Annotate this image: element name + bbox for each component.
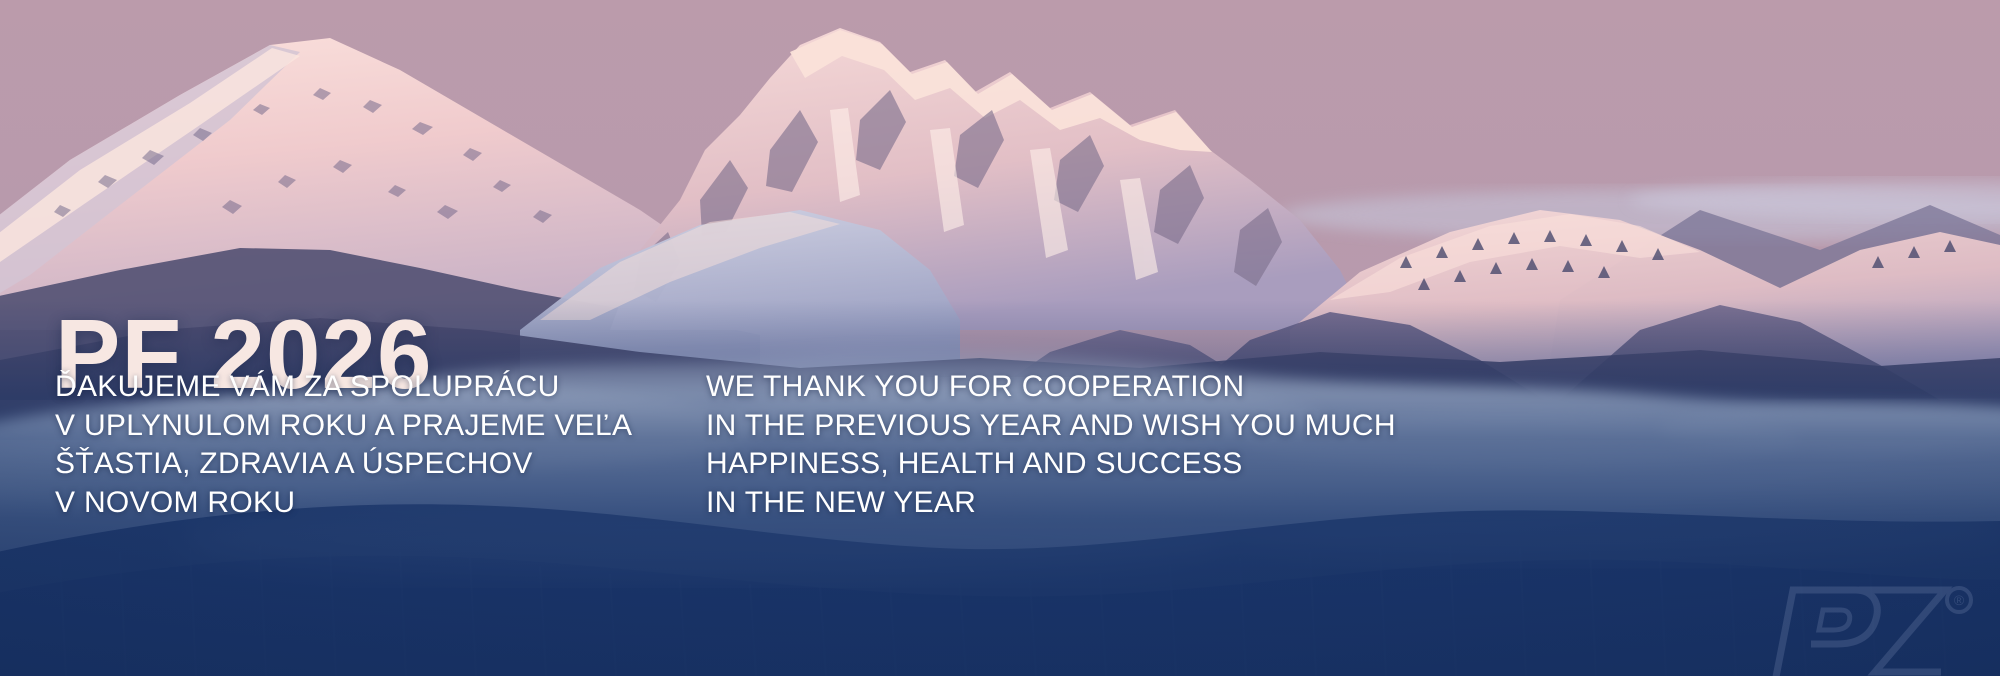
greeting-slovak: ĎAKUJEME VÁM ZA SPOLUPRÁCU V UPLYNULOM R… [55,368,632,523]
greeting-english: WE THANK YOU FOR COOPERATION IN THE PREV… [706,368,1396,523]
greeting-english-line-2: IN THE PREVIOUS YEAR AND WISH YOU MUCH [706,407,1396,446]
greeting-slovak-line-3: ŠŤASTIA, ZDRAVIA A ÚSPECHOV [55,445,632,484]
greeting-english-line-4: IN THE NEW YEAR [706,484,1396,523]
greeting-english-line-1: WE THANK YOU FOR COOPERATION [706,368,1396,407]
registered-mark-glyph: ® [1954,592,1965,608]
pz-logo-watermark-icon: ® [1763,576,1978,676]
greeting-english-line-3: HAPPINESS, HEALTH AND SUCCESS [706,445,1396,484]
greeting-slovak-line-2: V UPLYNULOM ROKU A PRAJEME VEĽA [55,407,632,446]
greeting-slovak-line-1: ĎAKUJEME VÁM ZA SPOLUPRÁCU [55,368,632,407]
greeting-slovak-line-4: V NOVOM ROKU [55,484,632,523]
pf-greeting-card: PF 2026 ĎAKUJEME VÁM ZA SPOLUPRÁCU V UPL… [0,0,2000,676]
